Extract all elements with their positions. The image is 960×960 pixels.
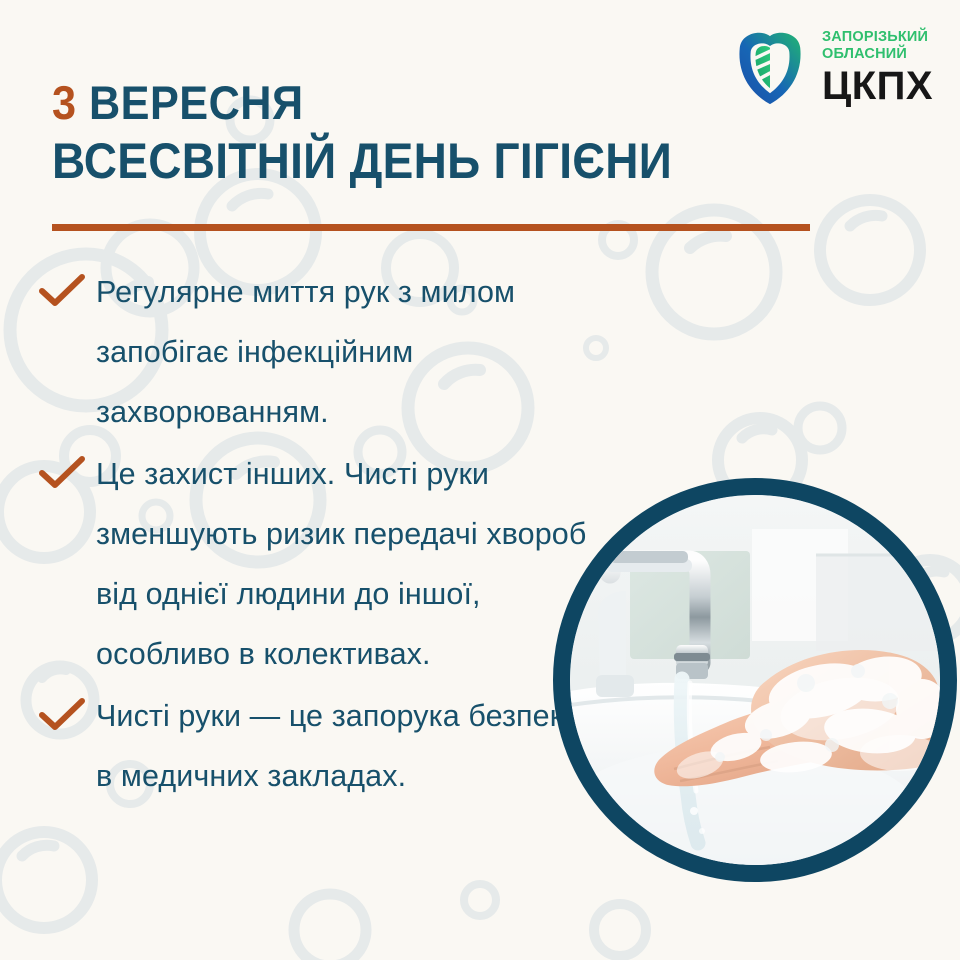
list-item-label: Це захист інших. Чисті руки зменшують ри… bbox=[96, 444, 588, 684]
logo-line-1: ЗАПОРІЗЬКИЙ bbox=[822, 30, 933, 45]
check-mark-icon bbox=[28, 262, 96, 318]
poster-canvas: ЗАПОРІЗЬКИЙ ОБЛАСНИЙ ЦКПХ 3 ВЕРЕСНЯ ВСЕС… bbox=[0, 0, 960, 960]
check-mark-icon bbox=[28, 444, 96, 500]
day-number: 3 bbox=[52, 76, 77, 129]
headline-date-line: 3 ВЕРЕСНЯ bbox=[52, 78, 770, 129]
check-mark-icon bbox=[28, 686, 96, 742]
logo-wordmark: ЗАПОРІЗЬКИЙ ОБЛАСНИЙ ЦКПХ bbox=[822, 30, 933, 106]
handwashing-photo bbox=[553, 478, 957, 882]
headline-main-line: ВСЕСВІТНІЙ ДЕНЬ ГІГІЄНИ bbox=[52, 133, 770, 189]
month-name: ВЕРЕСНЯ bbox=[89, 76, 304, 129]
handwashing-photo-image bbox=[570, 495, 940, 865]
list-item-label: Чисті руки — це запорука безпеки в медич… bbox=[96, 686, 588, 806]
logo-line-2: ОБЛАСНИЙ bbox=[822, 47, 933, 62]
benefits-list: Регулярне миття рук з милом запобігає ін… bbox=[28, 262, 588, 808]
list-item: Регулярне миття рук з милом запобігає ін… bbox=[28, 262, 588, 442]
list-item-label: Регулярне миття рук з милом запобігає ін… bbox=[96, 262, 588, 442]
list-item: Це захист інших. Чисті руки зменшують ри… bbox=[28, 444, 588, 684]
logo-abbreviation: ЦКПХ bbox=[822, 66, 933, 106]
list-item: Чисті руки — це запорука безпеки в медич… bbox=[28, 686, 588, 806]
title-divider-rule bbox=[52, 224, 810, 231]
page-title: 3 ВЕРЕСНЯ ВСЕСВІТНІЙ ДЕНЬ ГІГІЄНИ bbox=[52, 78, 832, 189]
headline-spacer bbox=[77, 76, 89, 129]
